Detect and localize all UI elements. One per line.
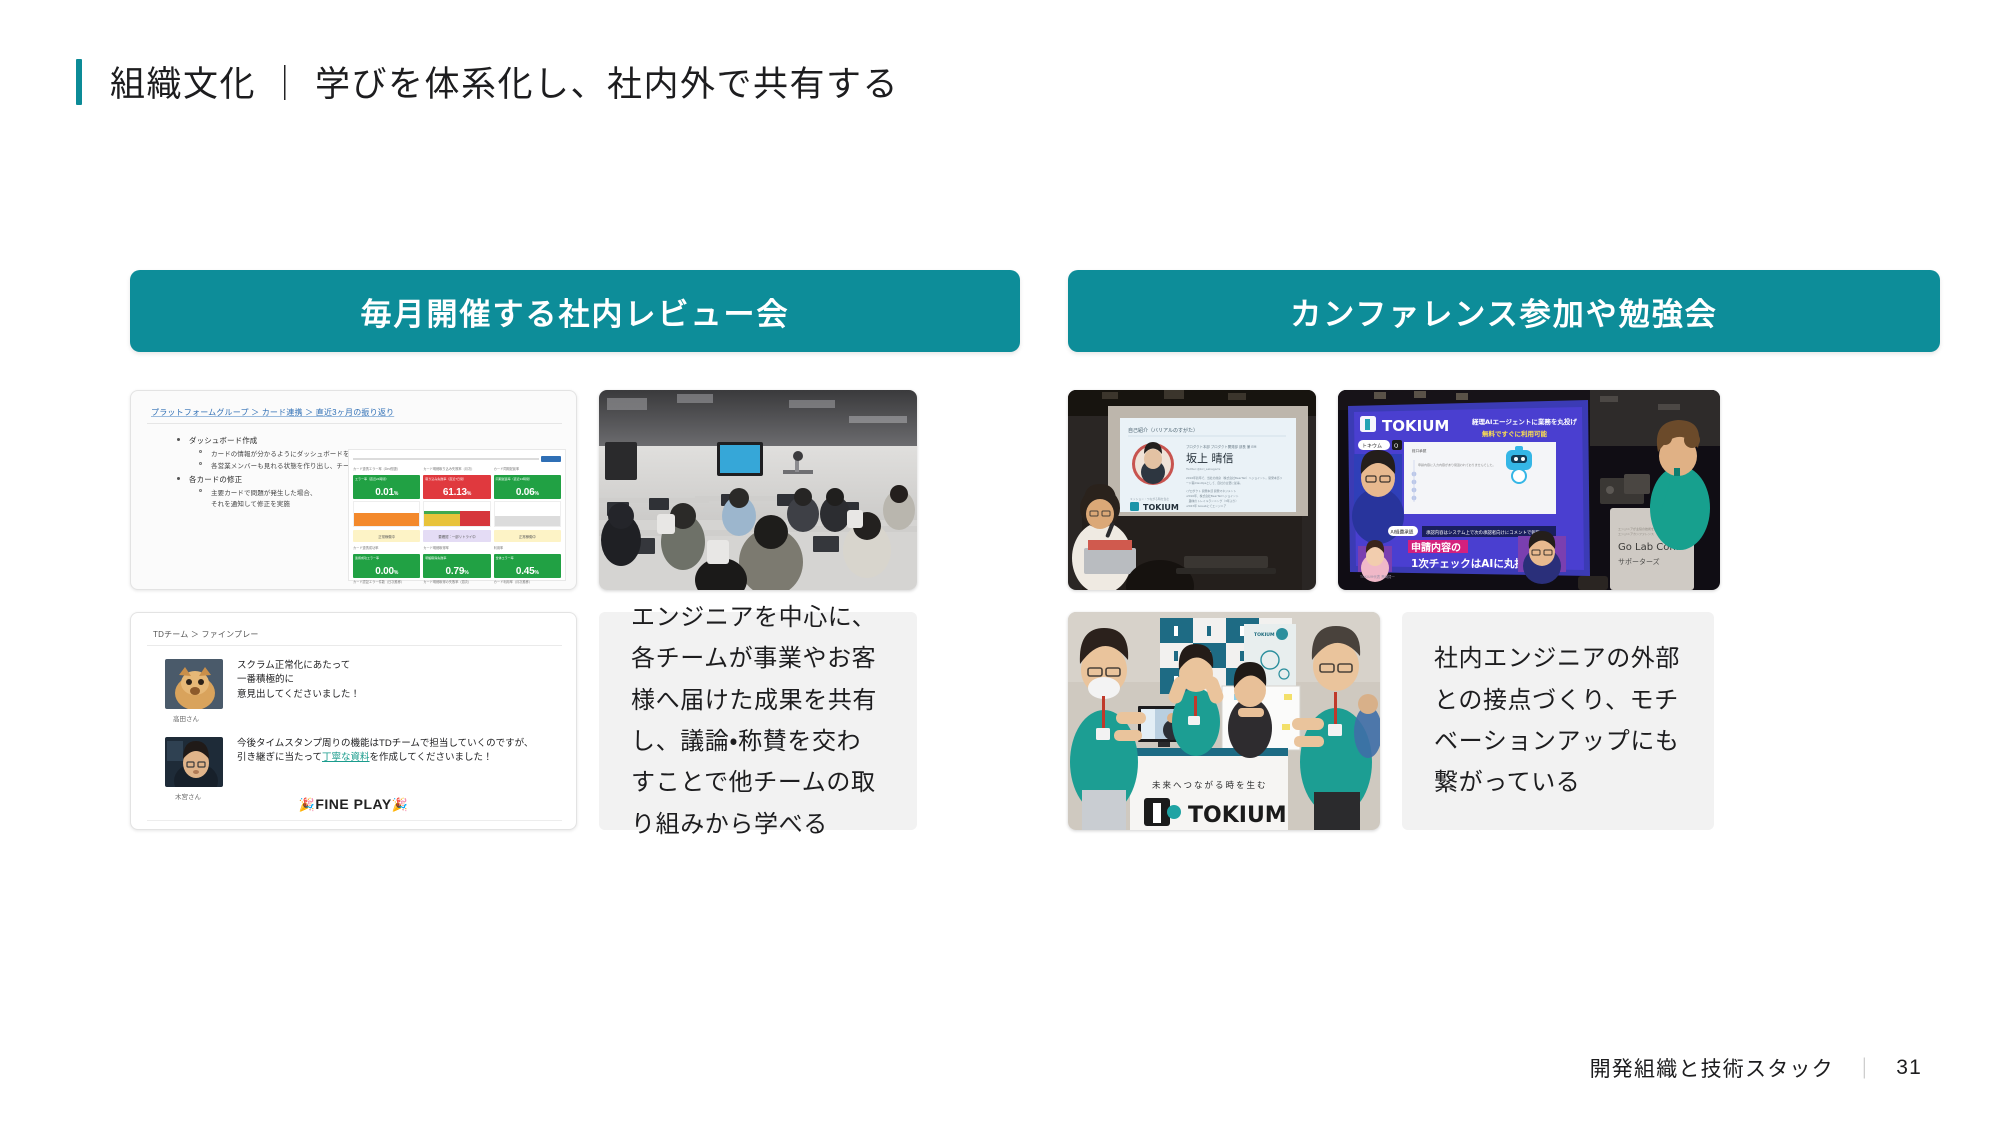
- metric-unit: %: [535, 570, 539, 576]
- embedded-dashboard: カード連携エラー率（Dev関連） エラー率（直近24時間） 0.01% 正常稼働…: [348, 449, 566, 581]
- footer-page-number: 31: [1896, 1056, 1922, 1080]
- retro-bullet-5: 主要カードで問題が発生した場合、: [211, 487, 317, 497]
- svg-text:トキウム: トキウム: [1362, 442, 1382, 449]
- footer-separator: ｜: [1854, 1053, 1876, 1083]
- svg-text:未来へつながる時を生む: 未来へつながる時を生む: [1152, 780, 1268, 791]
- fineplay-text-link[interactable]: 丁寧な資料: [322, 752, 370, 763]
- caption-internal-review-wrap: エンジニアを中心に、各チームが事業やお客様へ届けた成果を共有し、議論・称賛を交わ…: [599, 612, 917, 830]
- dashboard-metrics-row-2: カード連携成功率 連携成功エラー率 0.00% カード認証エラー件数（日次推移）…: [353, 546, 561, 588]
- retro-breadcrumb: プラットフォームグループ ＞ カード連携 ＞ 直近3ヶ月の振り返り: [151, 407, 394, 418]
- metric-unit: %: [394, 491, 398, 497]
- metric-sub-caption: カード明細取得の失敗率（週次）: [423, 580, 490, 588]
- status-pill: 正常稼働中: [494, 530, 561, 542]
- metric-label: カード同期遅延率: [494, 467, 561, 475]
- screenshot-fine-play: TDチーム ＞ ファインプレー: [130, 612, 577, 830]
- photo-illustration: [599, 390, 917, 590]
- metric-card: 利用率 全体エラー率 0.45% カード利用率（月次推移）: [494, 546, 561, 588]
- metric-unit: %: [464, 570, 468, 576]
- svg-text:TOKIUM: TOKIUM: [1143, 503, 1179, 512]
- retro-bullet-2: カードの情報が分かるようにダッシュボードを作成: [211, 448, 363, 458]
- metric-sublabel: 取り込み失敗率（直近7日間）: [425, 477, 466, 481]
- footer-section-label: 開発組織と技術スタック: [1590, 1053, 1834, 1083]
- metric-sub-caption: カード認証エラー件数（日次推移）: [353, 580, 420, 588]
- metric-card: カード同期遅延率 同期遅延率（直近24時間） 0.06% 正常稼働中: [494, 467, 561, 542]
- metric-value-box: 連携成功エラー率 0.00%: [353, 554, 420, 578]
- dashboard-toolbar: [353, 454, 561, 464]
- status-pill: 要確認：一部リトライ中: [423, 530, 490, 542]
- metric-label: カード連携成功率: [353, 546, 420, 554]
- metric-number: 0.79: [446, 566, 465, 577]
- photo-illustration: TOKIUM 未来へつながる時を生む: [1068, 612, 1380, 830]
- status-pill: 正常稼働中: [353, 530, 420, 542]
- svg-text:申請内容に入力内容があり間違われておりませんでした。: 申請内容に入力内容があり間違われておりませんでした。: [1418, 462, 1495, 467]
- svg-text:サポーターズ: サポーターズ: [1618, 557, 1660, 566]
- title-accent-bar: [76, 59, 82, 105]
- retro-bullet-1: ダッシュボード作成: [189, 435, 257, 446]
- photo-illustration: TOKIUM 経理AIエージェントに業務を丸投げ 無料ですぐに利用可能 経口承認…: [1338, 390, 1720, 590]
- svg-text:Twitter:@bcl_sakagami: Twitter:@bcl_sakagami: [1185, 467, 1220, 471]
- svg-text:坂上 晴信: 坂上 晴信: [1186, 451, 1234, 465]
- svg-text:・2016年、株式会社BearTailへジョイント: ・2016年、株式会社BearTailへジョイント: [1186, 494, 1239, 498]
- banner-conference: カンファレンス参加や勉強会: [1068, 270, 1940, 352]
- metric-number: 0.01: [375, 487, 394, 498]
- svg-text:ード職・DevOpsとして、自社の主要に従事。: ード職・DevOpsとして、自社の主要に従事。: [1186, 481, 1242, 485]
- metric-card: カード明細取り込み失敗率（月次） 取り込み失敗率（直近7日間） 61.13% 要…: [423, 467, 490, 542]
- svg-text:・2023年 GoLabにてエンジニア: ・2023年 GoLabにてエンジニア: [1186, 504, 1226, 508]
- svg-text:TOKIUM代表 黒崎賢一: TOKIUM代表 黒崎賢一: [1359, 574, 1395, 579]
- fineplay-bottom-divider: [147, 820, 562, 821]
- fineplay-entry-text: 今後タイムスタンプ周りの機能はTDチームで担当していくのですが、引き継ぎに当たっ…: [237, 737, 537, 787]
- party-popper-icon: 🎉: [392, 797, 409, 812]
- caption-internal-review: エンジニアを中心に、各チームが事業やお客様へ届けた成果を共有し、議論・称賛を交わ…: [599, 612, 917, 830]
- metric-label: カード明細取得率: [423, 546, 490, 554]
- svg-text:エンジニアカンファレンス: エンジニアカンファレンス: [1618, 531, 1654, 536]
- avatar: [165, 737, 223, 787]
- metric-number: 0.06: [516, 487, 535, 498]
- svg-text:・プロダクト 開発本部 開発マネジメント: ・プロダクト 開発本部 開発マネジメント: [1186, 489, 1236, 493]
- fineplay-entry-author: 高田さん: [173, 713, 199, 723]
- svg-text:経理AIエージェントに業務を丸投げ: 経理AIエージェントに業務を丸投げ: [1471, 417, 1577, 426]
- svg-text:承認内容はシステム上で次の承認者向けにコメントで報告: 承認内容はシステム上で次の承認者向けにコメントで報告: [1426, 529, 1541, 536]
- bullet-marker: [177, 477, 180, 480]
- svg-text:TOKIUM: TOKIUM: [1382, 417, 1449, 435]
- photo-conference-talk: 自己紹介（バリアルのすがた） プロダクト本部 プロダクト開発部 部長 兼 EM …: [1068, 390, 1316, 590]
- left-row-1: プラットフォームグループ ＞ カード連携 ＞ 直近3ヶ月の振り返り ダッシュボー…: [130, 390, 1020, 590]
- avatar-image: [165, 737, 223, 787]
- caption-conference: 社内エンジニアの外部との接点づくり、モチベーションアップにも繋がっている: [1402, 612, 1714, 830]
- svg-text:2016年新卒で、当社の前身（株式会社BearTail）へジ: 2016年新卒で、当社の前身（株式会社BearTail）へジョイント。開発本部リ: [1186, 476, 1282, 480]
- photo-conference-booth: TOKIUM 未来へつながる時を生む: [1068, 612, 1380, 830]
- metric-number: 0.45: [516, 566, 535, 577]
- metric-sublabel: 明細取得失敗率: [425, 556, 446, 560]
- banner-internal-review: 毎月開催する社内レビュー会: [130, 270, 1020, 352]
- metric-card: カード連携エラー率（Dev関連） エラー率（直近24時間） 0.01% 正常稼働…: [353, 467, 420, 542]
- metric-label: 利用率: [494, 546, 561, 554]
- bullet-marker: [199, 450, 202, 453]
- metric-value-box: 明細取得失敗率 0.79%: [423, 554, 490, 578]
- caption-conference-wrap: 社内エンジニアの外部との接点づくり、モチベーションアップにも繋がっている: [1402, 612, 1714, 830]
- fineplay-breadcrumb: TDチーム ＞ ファインプレー: [153, 629, 259, 640]
- caption-conference-text: 社内エンジニアの外部との接点づくり、モチベーションアップにも繋がっている: [1434, 638, 1682, 803]
- photo-illustration: 自己紹介（バリアルのすがた） プロダクト本部 プロダクト開発部 部長 兼 EM …: [1068, 390, 1316, 590]
- fineplay-footer-label: FINE PLAY: [315, 796, 391, 812]
- page-title: 組織文化 ｜ 学びを体系化し、社内外で共有する: [76, 56, 899, 107]
- bullet-marker: [199, 489, 202, 492]
- banner-internal-review-label: 毎月開催する社内レビュー会: [361, 289, 790, 334]
- svg-text:AI経費承認: AI経費承認: [1391, 528, 1414, 535]
- retro-divider: [147, 423, 562, 424]
- metric-value: 0.00%: [375, 566, 398, 577]
- svg-text:1次チェックはAIに丸投げ: 1次チェックはAIに丸投げ: [1411, 557, 1536, 570]
- metric-sublabel: エラー率（直近24時間）: [355, 477, 388, 481]
- retro-bullet-4: 各カードの修正: [189, 474, 242, 485]
- metric-sparkline: [423, 501, 490, 527]
- metric-sublabel: 全体エラー率: [496, 556, 514, 560]
- screenshot-retrospective: プラットフォームグループ ＞ カード連携 ＞ 直近3ヶ月の振り返り ダッシュボー…: [130, 390, 577, 590]
- footer: 開発組織と技術スタック ｜ 31: [1590, 1053, 1922, 1083]
- metric-value: 0.45%: [516, 566, 539, 577]
- metric-label: カード明細取り込み失敗率（月次）: [423, 467, 490, 475]
- metric-value-box: 同期遅延率（直近24時間） 0.06%: [494, 475, 561, 499]
- metric-card: カード明細取得率 明細取得失敗率 0.79% カード明細取得の失敗率（週次）: [423, 546, 490, 588]
- left-row-2: TDチーム ＞ ファインプレー: [130, 612, 1020, 830]
- metric-sparkline: [494, 501, 561, 527]
- bullet-marker: [199, 462, 202, 465]
- party-popper-icon: 🎉: [299, 797, 316, 812]
- fineplay-entry: スクラム正常化にあたって 一番積極的に 意見出してくださいました！: [165, 659, 360, 709]
- retro-bullet-6: それを通知して修正を実施: [211, 498, 290, 508]
- svg-text:Q: Q: [1394, 444, 1398, 450]
- right-row-1: 自己紹介（バリアルのすがた） プロダクト本部 プロダクト開発部 部長 兼 EM …: [1068, 390, 1940, 590]
- dashboard-primary-button[interactable]: [541, 456, 561, 462]
- slide-root: 組織文化 ｜ 学びを体系化し、社内外で共有する 毎月開催する社内レビュー会 プラ…: [0, 0, 2000, 1125]
- metric-value-box: 全体エラー率 0.45%: [494, 554, 561, 578]
- metric-value-box: 取り込み失敗率（直近7日間） 61.13%: [423, 475, 490, 499]
- metric-sublabel: 連携成功エラー率: [355, 556, 379, 560]
- metric-label: カード連携エラー率（Dev関連）: [353, 467, 420, 475]
- banner-conference-label: カンファレンス参加や勉強会: [1290, 289, 1717, 334]
- svg-text:プロダクト本部 プロダクト開発部 部長 兼 EM: プロダクト本部 プロダクト開発部 部長 兼 EM: [1186, 444, 1256, 449]
- metric-card: カード連携成功率 連携成功エラー率 0.00% カード認証エラー件数（日次推移）: [353, 546, 420, 588]
- toolbar-line: [353, 458, 539, 460]
- svg-text:申請内容の: 申請内容の: [1411, 541, 1461, 554]
- svg-text:無料ですぐに利用可能: 無料ですぐに利用可能: [1482, 429, 1548, 438]
- svg-text:TOKIUM: TOKIUM: [1254, 632, 1275, 638]
- column-conference: カンファレンス参加や勉強会 自己紹介（バリアルのすがた）: [1068, 270, 1940, 830]
- metric-unit: %: [467, 491, 471, 497]
- metric-unit: %: [394, 570, 398, 576]
- caption-internal-review-text: エンジニアを中心に、各チームが事業やお客様へ届けた成果を共有し、議論・称賛を交わ…: [631, 597, 885, 845]
- title-text: 組織文化 ｜ 学びを体系化し、社内外で共有する: [110, 56, 899, 107]
- svg-text:自己紹介（バリアルのすがた）: 自己紹介（バリアルのすがた）: [1128, 427, 1198, 434]
- fineplay-text-after: を作成してくださいました！: [370, 752, 493, 763]
- svg-text:ミッション：つながる時を生む: ミッション：つながる時を生む: [1130, 497, 1169, 501]
- right-row-2: TOKIUM 未来へつながる時を生む: [1068, 612, 1940, 830]
- metric-value: 0.01%: [375, 487, 398, 498]
- photo-internal-review-room: [599, 390, 917, 590]
- metric-value: 0.79%: [446, 566, 469, 577]
- column-internal-review: 毎月開催する社内レビュー会 プラットフォームグループ ＞ カード連携 ＞ 直近3…: [130, 270, 1020, 830]
- fineplay-divider: [147, 645, 562, 646]
- metric-number: 0.00: [375, 566, 394, 577]
- metric-value: 0.06%: [516, 487, 539, 498]
- avatar: [165, 659, 223, 709]
- dashboard-metrics-row-1: カード連携エラー率（Dev関連） エラー率（直近24時間） 0.01% 正常稼働…: [353, 467, 561, 542]
- metric-unit: %: [535, 491, 539, 497]
- metric-number: 61.13: [443, 487, 467, 498]
- svg-text:趣味のトレイルランニング（3年ぶり）: 趣味のトレイルランニング（3年ぶり）: [1186, 499, 1238, 503]
- metric-value: 61.13%: [443, 487, 471, 498]
- fineplay-entry: 今後タイムスタンプ周りの機能はTDチームで担当していくのですが、引き継ぎに当たっ…: [165, 737, 537, 787]
- fineplay-footer: 🎉FINE PLAY🎉: [131, 796, 576, 813]
- photo-conference-stage: TOKIUM 経理AIエージェントに業務を丸投げ 無料ですぐに利用可能 経口承認…: [1338, 390, 1720, 590]
- bullet-marker: [177, 438, 180, 441]
- avatar-image: [165, 659, 223, 709]
- svg-text:TOKIUM: TOKIUM: [1188, 803, 1287, 828]
- fineplay-entry-text: スクラム正常化にあたって 一番積極的に 意見出してくださいました！: [237, 659, 360, 709]
- svg-text:経口承認: 経口承認: [1412, 448, 1427, 453]
- metric-sub-caption: カード利用率（月次推移）: [494, 580, 561, 588]
- metric-sublabel: 同期遅延率（直近24時間）: [496, 477, 532, 481]
- metric-sparkline: [353, 501, 420, 527]
- metric-value-box: エラー率（直近24時間） 0.01%: [353, 475, 420, 499]
